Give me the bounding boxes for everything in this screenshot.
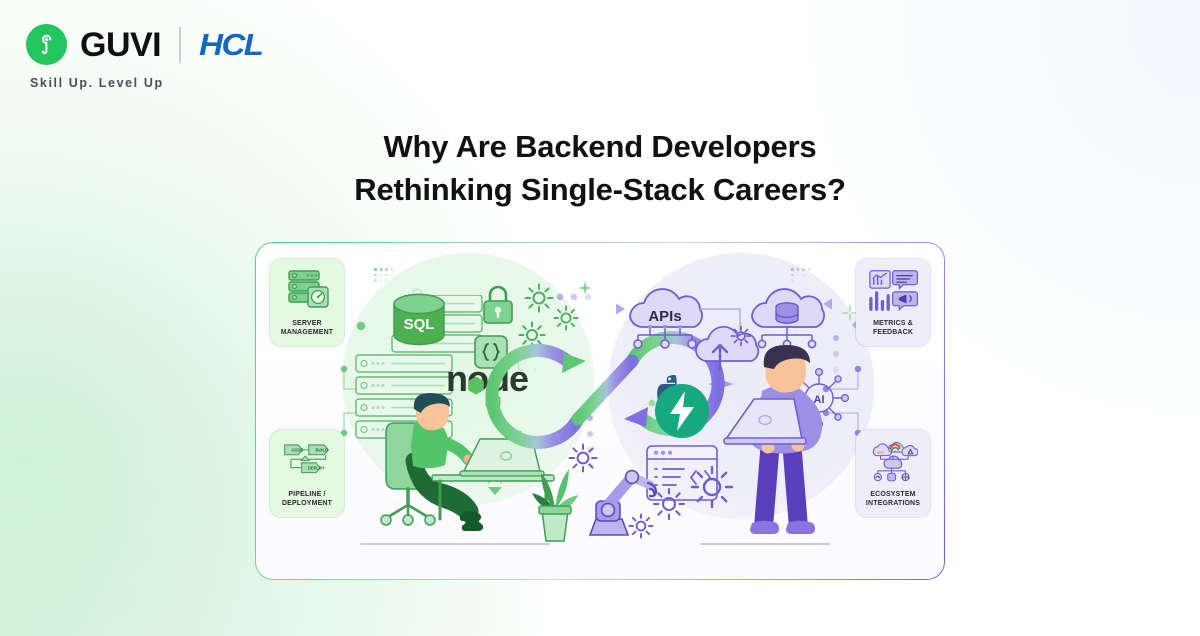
page-title-line-2: Rethinking Single-Stack Careers? <box>0 169 1200 212</box>
sql-database-icon: SQL <box>390 293 448 355</box>
gear-icon-purple-mid <box>652 487 686 521</box>
floor-line-right <box>700 543 830 545</box>
illustration-panel: SERVERMANAGEMENT CODE BUILD DEPLOY <box>255 242 945 580</box>
gear-icon-purple-left <box>568 443 598 473</box>
card-metrics-feedback-label: METRICS &FEEDBACK <box>873 319 913 338</box>
brand-divider <box>179 27 181 63</box>
svg-text:aws: aws <box>877 450 884 454</box>
card-ecosystem-integrations-label: ECOSYSTEMINTEGRATIONS <box>866 490 920 509</box>
gear-icon-top-left <box>524 283 554 313</box>
hcl-wordmark: HCL <box>199 29 262 59</box>
floor-line-left <box>360 543 550 545</box>
cloud-integrations-icon: aws <box>868 439 918 483</box>
card-ecosystem-integrations[interactable]: aws <box>856 430 930 517</box>
page-title-line-1: Why Are Backend Developers <box>384 129 817 164</box>
sql-label: SQL <box>404 316 435 333</box>
dot-cluster-left <box>374 268 393 282</box>
card-metrics-feedback[interactable]: METRICS &FEEDBACK <box>856 259 930 346</box>
server-stack-gauge-icon <box>282 268 332 312</box>
sparkle-icon-green <box>578 281 592 295</box>
brand-lockup: GUVI HCL Skill Up. Level Up <box>26 24 262 90</box>
page-title: Why Are Backend Developers Rethinking Si… <box>0 126 1200 212</box>
guvi-logo-icon <box>26 24 67 65</box>
gear-icon-purple-small <box>628 513 654 539</box>
standing-developer-illustration <box>718 343 848 543</box>
card-server-management-label: SERVERMANAGEMENT <box>281 319 333 338</box>
charts-feedback-icon <box>868 268 918 312</box>
card-pipeline-deployment[interactable]: CODE BUILD DEPLOY PIPELINE /DEPLOYMENT <box>270 430 344 517</box>
ci-cd-pipeline-icon: CODE BUILD DEPLOY <box>282 439 332 483</box>
pipeline-step-deploy: DEPLOY <box>308 465 325 470</box>
pipeline-step-build: BUILD <box>315 447 328 452</box>
apis-label: APIs <box>648 308 681 325</box>
guvi-wordmark: GUVI <box>80 28 161 62</box>
card-pipeline-deployment-label: PIPELINE /DEPLOYMENT <box>282 490 332 509</box>
pipeline-step-code: CODE <box>291 447 303 452</box>
lightning-bolt-icon <box>654 383 710 439</box>
card-server-management[interactable]: SERVERMANAGEMENT <box>270 259 344 346</box>
brand-tagline: Skill Up. Level Up <box>30 76 262 90</box>
